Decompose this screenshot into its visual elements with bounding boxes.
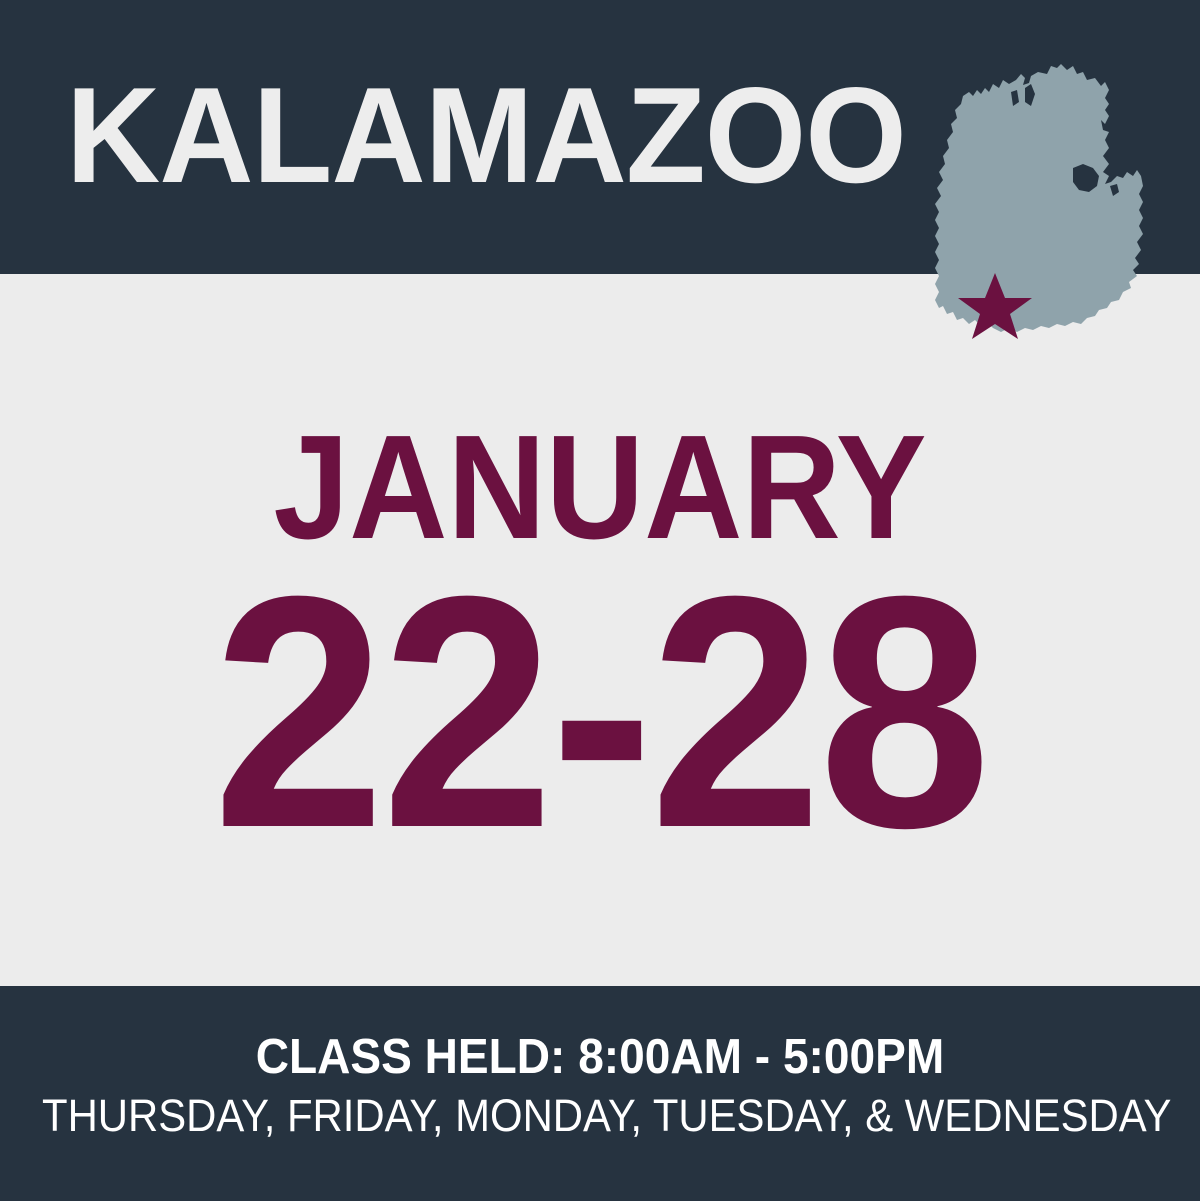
event-poster: KALAMAZOO JANUARY 22-28 CLASS HELD: 8:00… [0,0,1200,1201]
page-title: KALAMAZOO [66,70,930,200]
michigan-map-shape [935,64,1143,332]
event-day-range: 22-28 [36,547,1164,877]
class-days-text: THURSDAY, FRIDAY, MONDAY, TUESDAY, & WED… [42,1090,1158,1142]
class-time-text: CLASS HELD: 8:00AM - 5:00PM [36,1029,1164,1085]
michigan-map-icon [905,36,1155,346]
